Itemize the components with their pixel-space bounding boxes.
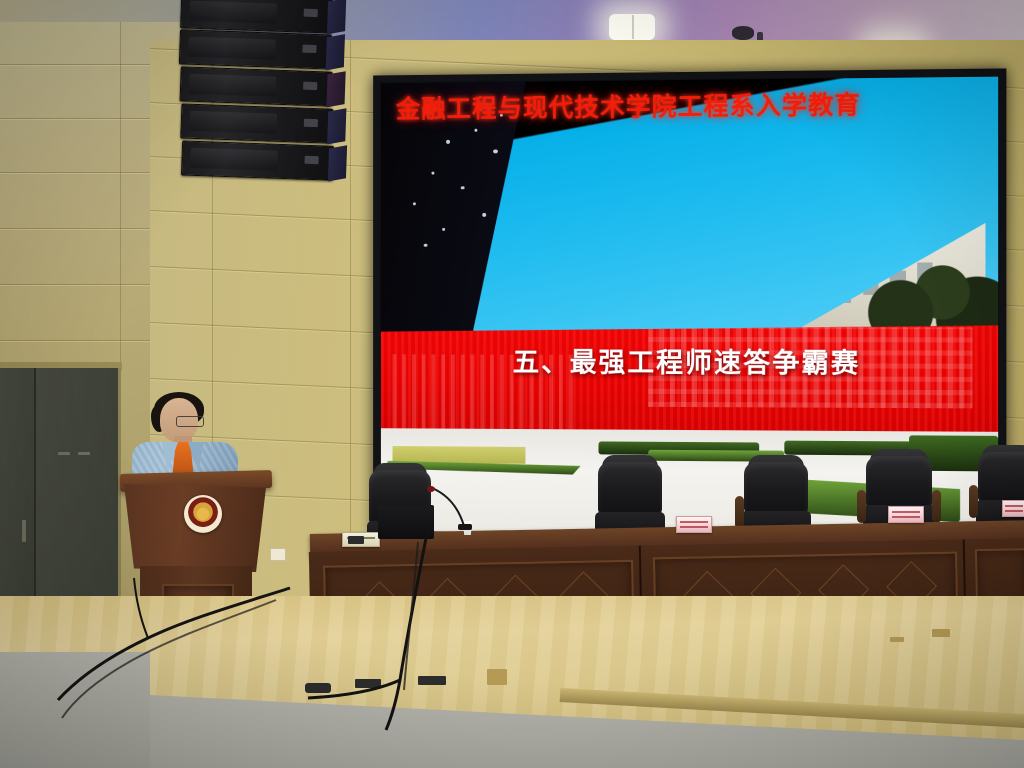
- delegate-name-card: [676, 516, 712, 533]
- delegate-name-card: [888, 506, 924, 523]
- institution-emblem: [184, 495, 222, 533]
- cable-path: [268, 520, 568, 740]
- chair-back: [598, 462, 662, 515]
- door-handle[interactable]: [58, 452, 70, 455]
- speaker-badge: [304, 119, 318, 127]
- line-array-module: [180, 103, 333, 143]
- ceiling-sensor-fixture: [732, 26, 754, 40]
- floor-monitor-wedge: [932, 629, 950, 637]
- cable-path: [40, 560, 300, 740]
- speaker-side-panel: [326, 34, 345, 70]
- slide-heading: 五、最强工程师速答争霸赛: [381, 341, 998, 382]
- line-array-module: [180, 66, 333, 106]
- line-array-module: [180, 0, 333, 34]
- chair-armrest: [969, 485, 978, 518]
- speaker-side-panel: [326, 71, 345, 107]
- speaker-side-panel: [328, 145, 347, 181]
- door-handle[interactable]: [22, 520, 26, 542]
- chair-back: [744, 462, 808, 514]
- chair-back: [978, 452, 1024, 503]
- speaker-badge: [304, 156, 318, 164]
- auditorium-photo: 金融工程与现代技术学院工程系入学教育 五、最强工程师速答争霸赛: [0, 0, 1024, 768]
- chair-back: [866, 456, 932, 508]
- line-array-module: [181, 140, 334, 180]
- chair-armrest: [735, 496, 744, 530]
- speaker-badge: [303, 82, 317, 90]
- floor-cable-run: [268, 520, 568, 740]
- floor-monitor-wedge: [890, 637, 904, 642]
- speaker-badge: [302, 45, 316, 53]
- eyeglasses: [176, 416, 204, 427]
- line-array-speaker-cluster: [173, 0, 339, 187]
- ceiling-light-panel: [609, 14, 655, 40]
- speaker-badge: [304, 9, 318, 17]
- chair-armrest: [932, 490, 941, 524]
- speaker-side-panel: [327, 0, 346, 34]
- chair-armrest: [857, 490, 866, 524]
- slide-title: 金融工程与现代技术学院工程系入学教育: [396, 84, 989, 126]
- delegate-name-card: [1002, 500, 1024, 517]
- floor-cable-run: [40, 560, 300, 740]
- door-handle[interactable]: [78, 452, 90, 455]
- speaker-side-panel: [327, 108, 346, 144]
- line-array-module: [179, 29, 332, 69]
